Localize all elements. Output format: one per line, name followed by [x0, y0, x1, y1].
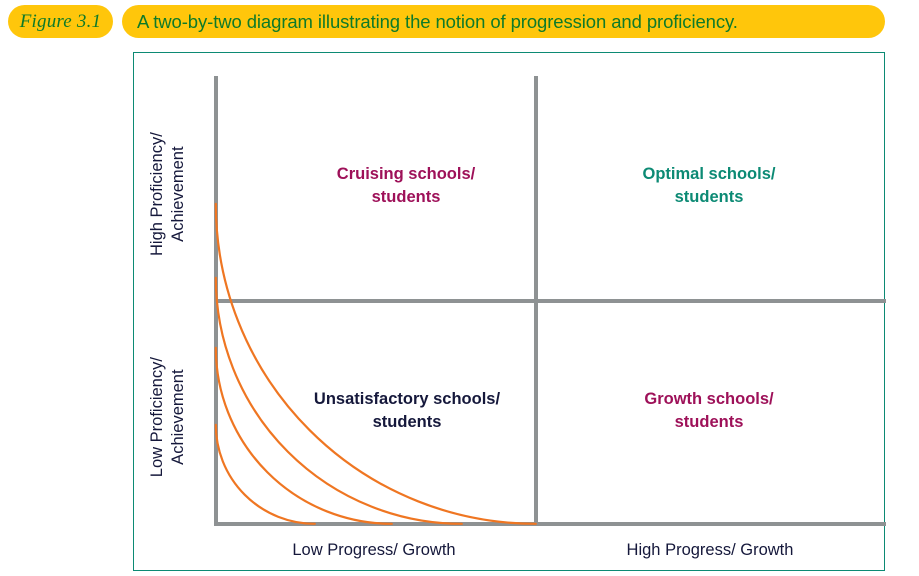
- figure-caption-pill: A two-by-two diagram illustrating the no…: [122, 5, 885, 38]
- figure-caption-bar: Figure 3.1 A two-by-two diagram illustra…: [0, 0, 919, 44]
- figure-caption-text: A two-by-two diagram illustrating the no…: [137, 11, 738, 33]
- figure-number-pill: Figure 3.1: [8, 5, 113, 38]
- x-axis-title-low-progress: Low Progress/ Growth: [214, 541, 534, 560]
- quadrant-label-growth: Growth schools/ students: [554, 388, 864, 435]
- y-axis-title-low-proficiency: Low Proficiency/ Achievement: [147, 317, 189, 517]
- quadrant-label-cruising: Cruising schools/ students: [282, 163, 530, 210]
- quadrant-label-unsatisfactory: Unsatisfactory schools/ students: [262, 388, 552, 435]
- quadrant-label-optimal: Optimal schools/ students: [554, 163, 864, 210]
- two-by-two-diagram: Cruising schools/ students Optimal schoo…: [134, 53, 884, 570]
- figure-frame: Cruising schools/ students Optimal schoo…: [133, 52, 885, 571]
- progression-arc-1: [216, 425, 315, 524]
- x-axis-title-high-progress: High Progress/ Growth: [534, 541, 886, 560]
- progression-arcs: [134, 53, 886, 572]
- progression-arc-2: [216, 348, 392, 524]
- figure-number-label: Figure 3.1: [20, 11, 102, 33]
- progression-arc-4: [216, 204, 536, 524]
- y-axis-title-high-proficiency: High Proficiency/ Achievement: [147, 94, 189, 294]
